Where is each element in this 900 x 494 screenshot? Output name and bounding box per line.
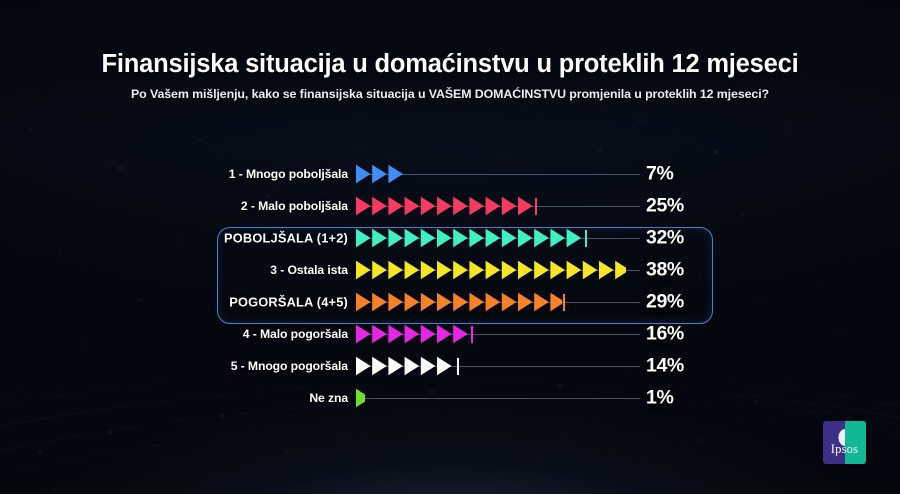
logo-wordmark: Ipsos [823, 442, 866, 457]
bar-track [356, 228, 640, 249]
bar-track [356, 196, 640, 217]
bar-value: 14% [646, 355, 684, 378]
ipsos-logo: Ipsos [823, 421, 866, 464]
page-title: Finansijska situacija u domaćinstvu u pr… [0, 50, 900, 78]
bar-label: POGORŠALA (4+5) [229, 295, 348, 310]
bar-value: 32% [646, 227, 684, 250]
bar-value: 38% [646, 259, 684, 282]
bar-fill [356, 324, 470, 345]
bar-end-cap [585, 230, 587, 247]
bar-value: 29% [646, 291, 684, 314]
bar-value: 25% [646, 195, 684, 218]
bar-chart: 1 - Mnogo poboljšala7%2 - Malo poboljšal… [0, 158, 900, 414]
bar-label: Ne zna [309, 391, 348, 405]
chart-row: 3 - Ostala ista38% [0, 254, 900, 286]
bar-label: 3 - Ostala ista [270, 263, 348, 277]
bar-end-cap [563, 294, 565, 311]
bar-fill [356, 228, 583, 249]
bar-track [356, 260, 640, 281]
bar-fill [356, 292, 562, 313]
bar-label: 4 - Malo pogoršala [243, 327, 348, 341]
bar-fill [356, 164, 406, 185]
chart-row: Ne zna1% [0, 382, 900, 414]
bar-fill [356, 388, 365, 409]
bar-track [356, 388, 640, 409]
chart-row: POBOLJŠALA (1+2)32% [0, 222, 900, 254]
bar-end-cap [535, 198, 537, 215]
header: Finansijska situacija u domaćinstvu u pr… [0, 50, 900, 101]
bar-track [356, 324, 640, 345]
bar-end-cap [457, 358, 459, 375]
bar-label: 2 - Malo poboljšala [241, 199, 348, 213]
bar-label: POBOLJŠALA (1+2) [224, 231, 348, 246]
chart-row: 5 - Mnogo pogoršala14% [0, 350, 900, 382]
page-subtitle: Po Vašem mišljenju, kako se finansijska … [0, 87, 900, 101]
bar-value: 7% [646, 163, 673, 186]
bar-fill [356, 356, 455, 377]
bar-fill [356, 196, 534, 217]
bar-end-cap [471, 326, 473, 343]
bar-value: 16% [646, 323, 684, 346]
bar-value: 1% [646, 387, 673, 410]
chart-row: 4 - Malo pogoršala16% [0, 318, 900, 350]
bar-track [356, 292, 640, 313]
bar-rail [356, 398, 640, 399]
chart-row: 2 - Malo poboljšala25% [0, 190, 900, 222]
chart-row: 1 - Mnogo poboljšala7% [0, 158, 900, 190]
chart-row: POGORŠALA (4+5)29% [0, 286, 900, 318]
bar-track [356, 164, 640, 185]
slide-canvas: Finansijska situacija u domaćinstvu u pr… [0, 0, 900, 494]
bar-label: 5 - Mnogo pogoršala [231, 359, 348, 373]
bar-fill [356, 260, 626, 281]
bar-track [356, 356, 640, 377]
bar-label: 1 - Mnogo poboljšala [229, 167, 348, 181]
